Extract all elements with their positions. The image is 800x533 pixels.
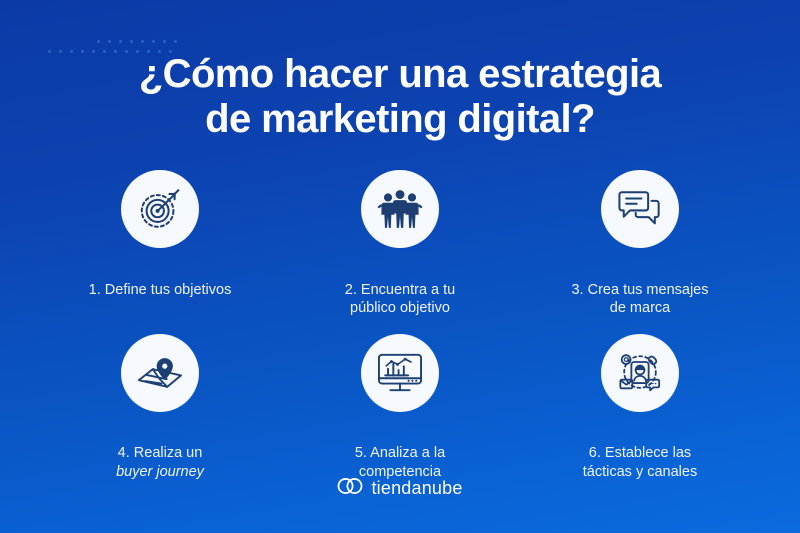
decorative-dot	[141, 40, 144, 43]
step-item-1: 1. Define tus objetivos	[40, 170, 280, 318]
decorative-dot	[97, 40, 100, 43]
step-caption-text-4: 4. Realiza un	[118, 445, 203, 461]
steps-grid: 1. Define tus objetivos	[40, 170, 760, 500]
step-caption-text-1: 1. Define tus objetivos	[89, 282, 232, 298]
decorative-dot	[174, 40, 177, 43]
brand-name: tiendanube	[371, 478, 462, 499]
page-title: ¿Cómo hacer una estrategia de marketing …	[0, 52, 800, 142]
decorative-dot	[119, 40, 122, 43]
speech-bubbles-icon	[601, 170, 679, 248]
customer-channels-icon	[601, 334, 679, 412]
step-caption-1: 1. Define tus objetivos	[89, 262, 232, 299]
step-caption-2: 2. Encuentra a tu público objetivo	[345, 262, 455, 318]
title-line-2: de marketing digital?	[60, 97, 740, 142]
step-caption-text-2: 2. Encuentra a tu público objetivo	[345, 282, 455, 317]
tiendanube-cloud-icon	[337, 476, 363, 501]
step-item-3: 3. Crea tus mensajes de marca	[520, 170, 760, 318]
step-caption-6: 6. Establece las tácticas y canales	[583, 426, 697, 482]
step-caption-text-5: 5. Analiza a la competencia	[355, 445, 445, 480]
step-item-6: 6. Establece las tácticas y canales	[520, 334, 760, 500]
step-item-4: 4. Realiza un buyer journey	[40, 334, 280, 500]
title-line-1: ¿Cómo hacer una estrategia	[60, 52, 740, 97]
brand-logo: tiendanube	[0, 476, 800, 501]
step-caption-text-3: 3. Crea tus mensajes de marca	[571, 282, 708, 317]
decorative-dot	[163, 40, 166, 43]
infographic-canvas: ¿Cómo hacer una estrategia de marketing …	[0, 0, 800, 533]
step-caption-5: 5. Analiza a la competencia	[355, 426, 445, 482]
map-pin-icon	[121, 334, 199, 412]
step-item-5: 5. Analiza a la competencia	[280, 334, 520, 500]
target-arrow-icon	[121, 170, 199, 248]
step-caption-3: 3. Crea tus mensajes de marca	[571, 262, 708, 318]
decorative-dot	[130, 40, 133, 43]
step-item-2: 2. Encuentra a tu público objetivo	[280, 170, 520, 318]
monitor-chart-icon	[361, 334, 439, 412]
decorative-dot	[108, 40, 111, 43]
step-caption-text-6: 6. Establece las tácticas y canales	[583, 445, 697, 480]
people-group-icon	[361, 170, 439, 248]
decorative-dot	[152, 40, 155, 43]
